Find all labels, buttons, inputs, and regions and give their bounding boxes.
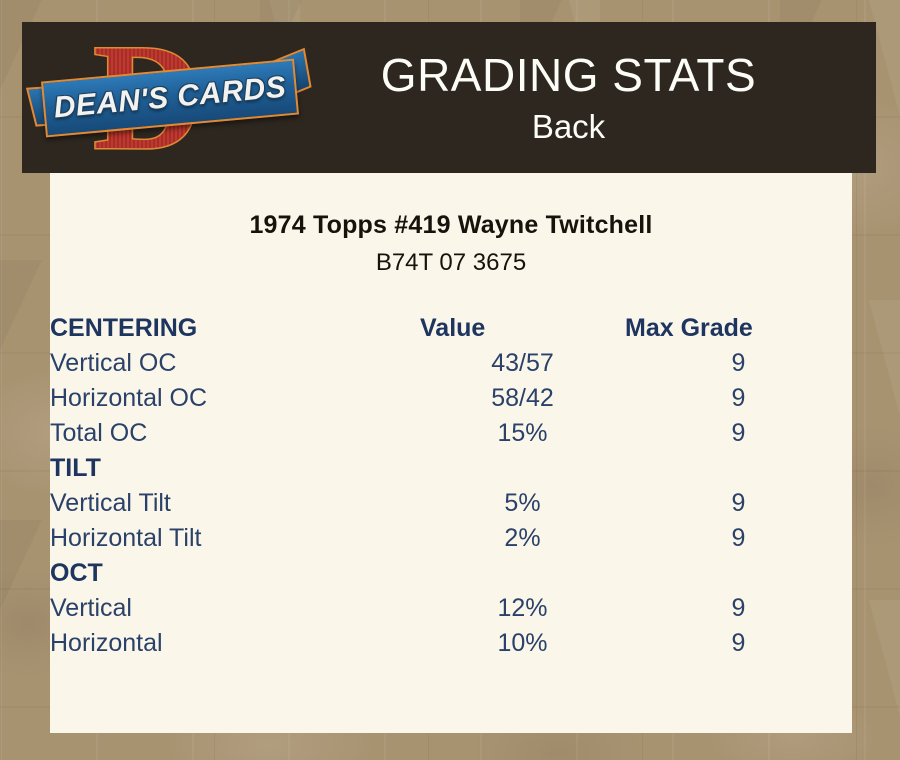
- page-subtitle: Back: [295, 106, 842, 148]
- stat-row-max-grade: 9: [625, 486, 852, 521]
- stat-row-max-grade: 9: [625, 346, 852, 381]
- column-header-value: Value: [420, 311, 625, 346]
- stat-row-label: Total OC: [50, 416, 420, 451]
- deans-cards-logo: D D DEAN'S CARDS: [45, 28, 295, 168]
- table-row: Vertical OC43/579: [50, 346, 852, 381]
- column-header-max-grade: [625, 556, 852, 591]
- stat-row-max-grade: 9: [625, 626, 852, 661]
- page-title: GRADING STATS: [295, 47, 842, 103]
- stat-row-value: 2%: [420, 521, 625, 556]
- stat-row-value: 10%: [420, 626, 625, 661]
- content-panel: 1974 Topps #419 Wayne Twitchell B74T 07 …: [50, 173, 852, 733]
- table-row: Vertical Tilt5%9: [50, 486, 852, 521]
- logo-banner-text: DEAN'S CARDS: [52, 70, 287, 125]
- stat-row-value: 15%: [420, 416, 625, 451]
- stat-row-value: 58/42: [420, 381, 625, 416]
- stat-row-label: Vertical OC: [50, 346, 420, 381]
- table-row: Vertical12%9: [50, 591, 852, 626]
- column-header-value: [420, 451, 625, 486]
- stat-row-label: Vertical Tilt: [50, 486, 420, 521]
- stat-row-label: Horizontal Tilt: [50, 521, 420, 556]
- stat-row-label: Horizontal: [50, 626, 420, 661]
- table-row: Total OC15%9: [50, 416, 852, 451]
- header-titles: GRADING STATS Back: [295, 47, 876, 148]
- stat-row-label: Vertical: [50, 591, 420, 626]
- column-header-max-grade: Max Grade: [625, 311, 852, 346]
- table-row: Horizontal Tilt2%9: [50, 521, 852, 556]
- section-header-row: TILT: [50, 451, 852, 486]
- stat-row-max-grade: 9: [625, 416, 852, 451]
- grading-stats-table: CENTERINGValueMax GradeVertical OC43/579…: [50, 311, 852, 661]
- section-title: OCT: [50, 556, 420, 591]
- section-header-row: CENTERINGValueMax Grade: [50, 311, 852, 346]
- section-title: TILT: [50, 451, 420, 486]
- stat-row-value: 5%: [420, 486, 625, 521]
- stat-row-value: 43/57: [420, 346, 625, 381]
- stat-row-value: 12%: [420, 591, 625, 626]
- section-title: CENTERING: [50, 311, 420, 346]
- stat-row-label: Horizontal OC: [50, 381, 420, 416]
- table-row: Horizontal10%9: [50, 626, 852, 661]
- card-serial-number: B74T 07 3675: [50, 249, 852, 277]
- card-title: 1974 Topps #419 Wayne Twitchell: [50, 211, 852, 240]
- column-header-max-grade: [625, 451, 852, 486]
- header-bar: D D DEAN'S CARDS GRADING STATS Back: [22, 22, 876, 173]
- stat-row-max-grade: 9: [625, 591, 852, 626]
- stat-row-max-grade: 9: [625, 381, 852, 416]
- stat-row-max-grade: 9: [625, 521, 852, 556]
- column-header-value: [420, 556, 625, 591]
- section-header-row: OCT: [50, 556, 852, 591]
- table-row: Horizontal OC58/429: [50, 381, 852, 416]
- logo-ribbon-banner: DEAN'S CARDS: [41, 58, 299, 137]
